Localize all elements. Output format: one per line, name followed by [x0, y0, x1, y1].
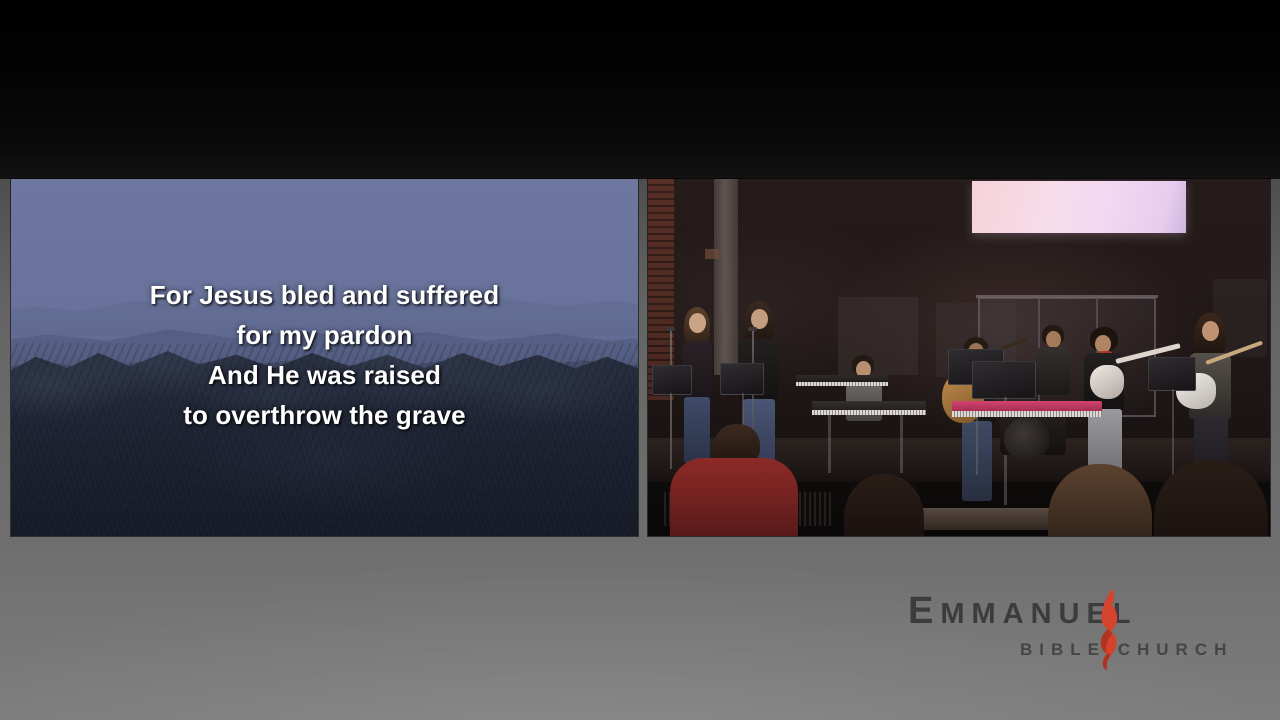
top-letterbox: [0, 0, 1280, 179]
music-stand: [1148, 357, 1196, 391]
microphone-icon: [666, 327, 675, 331]
stage-step: [912, 508, 1062, 530]
flame-icon: [1091, 588, 1123, 670]
keyboard-keys: [796, 382, 888, 386]
exit-sign-icon: [705, 249, 719, 259]
audience-member-red-shirt: [670, 424, 798, 536]
performer-torso: [1036, 347, 1070, 395]
performer-head: [1202, 321, 1219, 341]
stage-keyboard-pink: [952, 401, 1102, 417]
logo-initial-cap: E: [908, 590, 940, 632]
performer-head: [689, 313, 706, 333]
microphone-icon: [748, 327, 757, 331]
keyboard-instrument-lower: [796, 375, 888, 386]
lyric-line-3: And He was raised: [37, 355, 612, 395]
music-stand: [652, 365, 692, 395]
bass-guitar: [1090, 365, 1124, 399]
lyric-text-block: For Jesus bled and suffered for my pardo…: [11, 275, 638, 435]
worship-lyrics-slide[interactable]: For Jesus bled and suffered for my pardo…: [11, 179, 638, 536]
bass-drum: [1004, 417, 1050, 461]
stage-camera-feed[interactable]: [648, 179, 1270, 536]
keyboard-stand: [900, 415, 903, 473]
keyboard-keys: [952, 411, 1102, 417]
audience-torso: [670, 458, 798, 536]
lyric-line-1: For Jesus bled and suffered: [37, 275, 612, 315]
logo-secondary-text: BIBLE CHURCH: [1020, 640, 1233, 660]
lyric-line-2: for my pardon: [37, 315, 612, 355]
performer-drummer: [1034, 325, 1074, 409]
livestream-canvas: For Jesus bled and suffered for my pardo…: [0, 0, 1280, 720]
keyboard-instrument: [812, 401, 926, 415]
lyric-line-4: to overthrow the grave: [37, 395, 612, 435]
conductor-stand: [972, 361, 1036, 399]
performer-head: [1046, 331, 1061, 348]
music-stand: [720, 363, 764, 395]
emmanuel-bible-church-logo: EMMANUEL BIBLE CHURCH: [908, 592, 1238, 674]
performer-head: [751, 309, 768, 329]
stage-projection-screen: [972, 181, 1186, 233]
keyboard-stand: [828, 415, 831, 473]
